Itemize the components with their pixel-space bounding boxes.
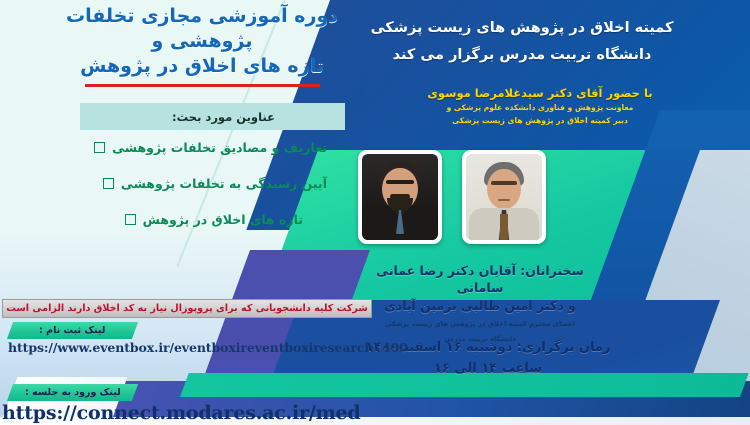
agenda-item-label: آیین رسیدگی به تخلفات پژوهشی (121, 176, 327, 191)
poster-title: دوره آموزشی مجازی تخلفات پژوهشی و تازه ه… (37, 4, 367, 79)
agenda-item-label: تعاریف و مصادیق تخلفات پژوهشی (112, 140, 327, 155)
speakers-affiliation-1: اعضای محترم کمیته اخلاق در پژوهش های زیس… (315, 319, 645, 329)
head-shape (487, 169, 521, 209)
join-link-badge: لینک ورود به جلسه : (7, 384, 138, 401)
event-time: ساعت ۱۴ الی ۱۶ (338, 361, 638, 376)
organizer-line-2: دانشگاه تربیت مدرس برگزار می کند (302, 47, 742, 63)
event-date: زمان برگزاری: دوشنبه ۱۶ اسفند ۱۴۰۰ (338, 340, 638, 355)
guest-title-line1: معاونت پژوهش و فناوری دانشکده علوم پزشکی… (340, 102, 740, 113)
tie-shape (500, 214, 508, 240)
speaker-photos (302, 150, 602, 244)
notice-label: شرکت کلیه دانشجویانی که برای پروپوزال نی… (6, 303, 368, 314)
guest-name: با حضور آقای دکتر سیدغلامرضا موسوی (340, 86, 740, 100)
speakers-line-2: سامانی (315, 279, 645, 296)
checkbox-icon (125, 214, 136, 225)
mouth-shape (498, 199, 510, 201)
agenda-header-label: عناوین مورد بحث: (80, 110, 345, 124)
checkbox-icon (94, 142, 105, 153)
speakers-line-3: و دکتر امین طالبی بزمین آبادی (315, 297, 645, 314)
title-red-divider (85, 84, 320, 87)
organizer-line-1: کمیته اخلاق در پژوهش های زیست پزشکی (302, 20, 742, 36)
join-link-label: لینک ورود به جلسه : (25, 387, 121, 398)
registration-link-label: لینک ثبت نام : (39, 325, 105, 336)
mustache-shape (390, 194, 410, 199)
speakers-block: سخنرانان: آقایان دکتر رضا عمانی سامانی و… (315, 262, 645, 344)
guest-of-honor: با حضور آقای دکتر سیدغلامرضا موسوی معاون… (340, 86, 740, 126)
agenda-header-bar: عناوین مورد بحث: (80, 103, 345, 130)
brow-shape (491, 181, 517, 185)
speaker-photo-1 (462, 150, 546, 244)
event-datetime: زمان برگزاری: دوشنبه ۱۶ اسفند ۱۴۰۰ ساعت … (338, 340, 638, 376)
join-url[interactable]: https://connect.modares.ac.ir/med (2, 402, 360, 424)
speakers-line-1: سخنرانان: آقایان دکتر رضا عمانی (315, 262, 645, 279)
registration-link-badge: لینک ثبت نام : (7, 322, 138, 339)
agenda-item-label: تازه های اخلاق در پژوهش (143, 212, 303, 227)
checkbox-icon (103, 178, 114, 189)
event-poster: دوره آموزشی مجازی تخلفات پژوهشی و تازه ه… (0, 0, 750, 425)
speaker-photo-2 (358, 150, 442, 244)
guest-title-line2: دبیر کمیته اخلاق در پژوهش های زیست پزشکی (340, 115, 740, 126)
brow-shape (386, 180, 414, 184)
